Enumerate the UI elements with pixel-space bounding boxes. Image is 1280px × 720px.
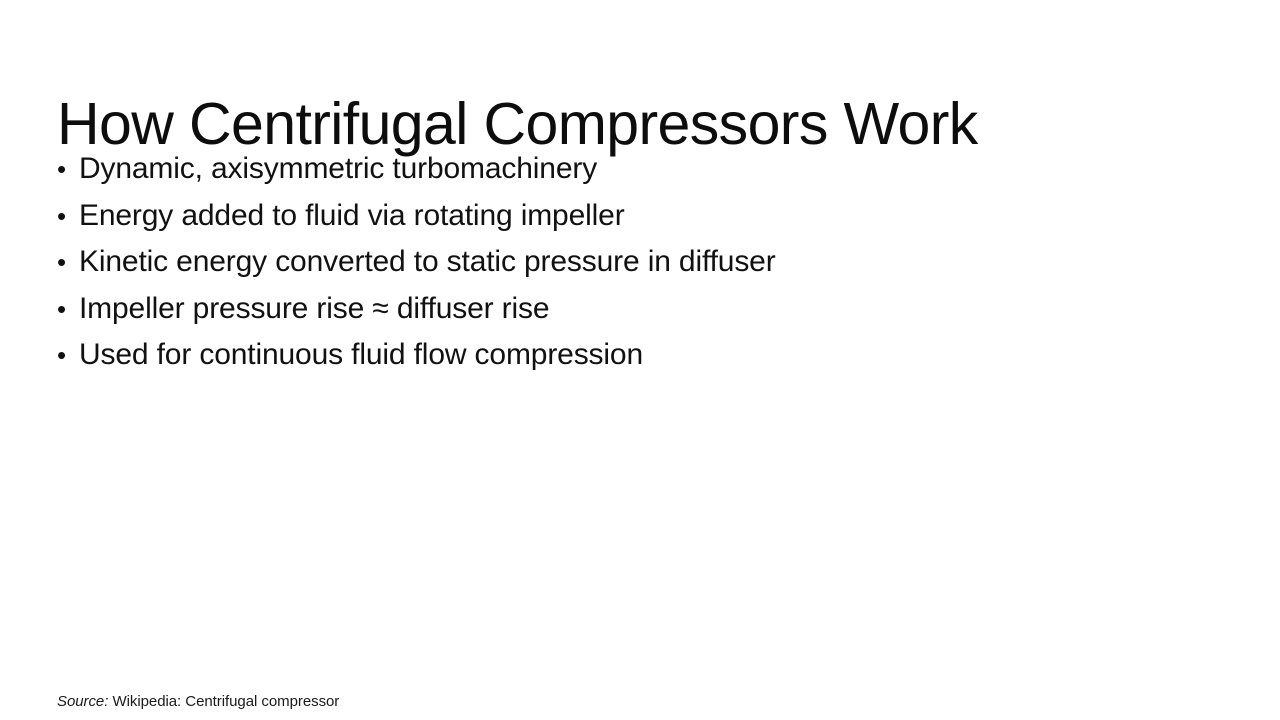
bullet-point-icon: •: [57, 286, 79, 333]
list-item: • Energy added to fluid via rotating imp…: [57, 193, 1227, 240]
list-item-label: Energy added to fluid via rotating impel…: [79, 193, 625, 240]
bullet-point-icon: •: [57, 332, 79, 379]
bullet-point-icon: •: [57, 193, 79, 240]
list-item: • Dynamic, axisymmetric turbomachinery: [57, 146, 1227, 193]
bullet-list: • Dynamic, axisymmetric turbomachinery •…: [57, 146, 1227, 379]
presentation-slide: How Centrifugal Compressors Work • Dynam…: [0, 0, 1280, 720]
list-item: • Used for continuous fluid flow compres…: [57, 332, 1227, 379]
list-item: • Impeller pressure rise ≈ diffuser rise: [57, 286, 1227, 333]
bullet-point-icon: •: [57, 239, 79, 286]
list-item-label: Impeller pressure rise ≈ diffuser rise: [79, 286, 549, 333]
source-attribution: Source: Wikipedia: Centrifugal compresso…: [57, 692, 339, 712]
source-value: Wikipedia: Centrifugal compressor: [112, 693, 339, 710]
bullet-point-icon: •: [57, 146, 79, 193]
list-item-label: Kinetic energy converted to static press…: [79, 239, 776, 286]
source-label: Source:: [57, 693, 108, 710]
list-item-label: Dynamic, axisymmetric turbomachinery: [79, 146, 597, 193]
list-item: • Kinetic energy converted to static pre…: [57, 239, 1227, 286]
list-item-label: Used for continuous fluid flow compressi…: [79, 332, 643, 379]
